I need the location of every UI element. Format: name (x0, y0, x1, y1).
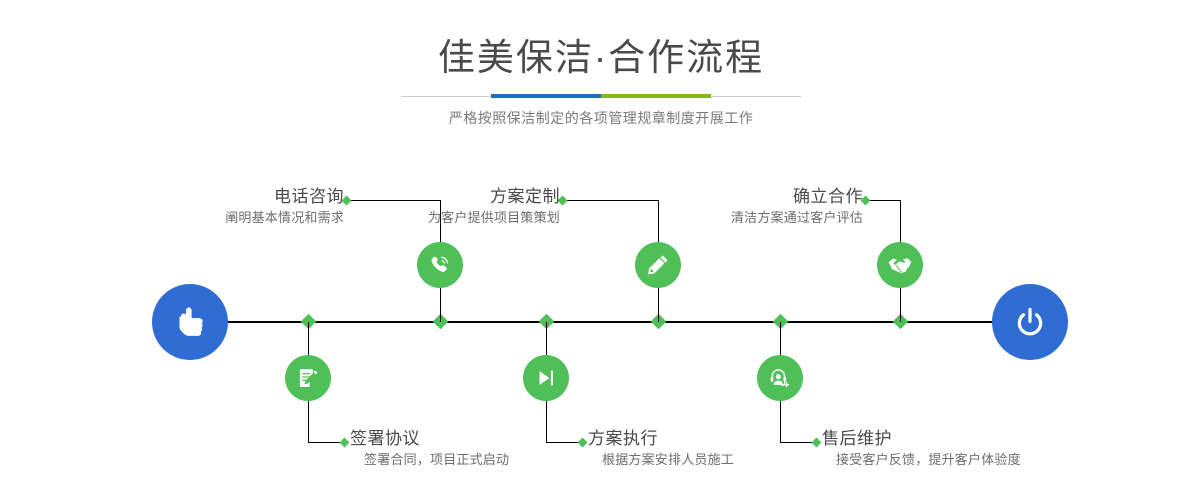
pointing-hand-icon (169, 301, 211, 343)
connector-stem-2 (308, 322, 309, 356)
play-execute-icon (533, 365, 559, 391)
step-node-2[interactable] (285, 355, 331, 401)
phone-call-icon (427, 252, 453, 278)
step-title-6: 售后维护 (822, 428, 1021, 450)
page-subtitle: 严格按照保洁制定的各项管理规章制度开展工作 (0, 107, 1202, 129)
step-node-6[interactable] (757, 355, 803, 401)
page-title: 佳美保洁·合作流程 (0, 36, 1202, 80)
timeline-start-endpoint (152, 284, 228, 360)
pencil-design-icon (645, 252, 671, 278)
step-title-5: 确立合作 (648, 186, 863, 208)
step-label-3: 方案定制 为客户提供项目策策划 (345, 186, 560, 228)
label-tip-2 (340, 438, 350, 448)
step-title-2: 签署协议 (350, 428, 509, 450)
handshake-icon (886, 251, 914, 279)
step-label-4: 方案执行 根据方案安排人员施工 (588, 428, 734, 470)
step-label-2: 签署协议 签署合同，项目正式启动 (350, 428, 509, 470)
step-title-4: 方案执行 (588, 428, 734, 450)
label-tip-6 (812, 438, 822, 448)
step-label-1: 电话咨询 阐明基本情况和需求 (129, 186, 344, 228)
power-button-icon (1010, 302, 1050, 342)
connector-stem-4 (546, 322, 547, 356)
step-desc-1: 阐明基本情况和需求 (129, 208, 344, 228)
step-node-5[interactable] (877, 242, 923, 288)
flow-diagram-page: 佳美保洁·合作流程 严格按照保洁制定的各项管理规章制度开展工作 (0, 0, 1202, 502)
step-desc-5: 清洁方案通过客户评估 (648, 208, 863, 228)
connector-riser-6 (780, 400, 781, 442)
step-desc-3: 为客户提供项目策策划 (345, 208, 560, 228)
step-node-1[interactable] (417, 242, 463, 288)
connector-elbow-3 (563, 200, 659, 201)
step-desc-4: 根据方案安排人员施工 (588, 450, 734, 470)
step-node-3[interactable] (635, 242, 681, 288)
connector-riser-4 (546, 400, 547, 442)
divider-segment-blue (491, 94, 601, 98)
divider-segment-green (601, 94, 711, 98)
timeline-rail (190, 321, 1040, 323)
step-title-3: 方案定制 (345, 186, 560, 208)
step-node-4[interactable] (523, 355, 569, 401)
step-title-1: 电话咨询 (129, 186, 344, 208)
sign-document-icon (295, 365, 321, 391)
step-desc-2: 签署合同，项目正式启动 (350, 450, 509, 470)
connector-riser-2 (308, 400, 309, 442)
step-label-6: 售后维护 接受客户反馈，提升客户体验度 (822, 428, 1021, 470)
connector-stem-6 (780, 322, 781, 356)
title-divider (401, 94, 801, 98)
label-tip-4 (578, 438, 588, 448)
step-desc-6: 接受客户反馈，提升客户体验度 (822, 450, 1021, 470)
step-label-5: 确立合作 清洁方案通过客户评估 (648, 186, 863, 228)
connector-riser-5 (900, 200, 901, 244)
connector-elbow-5 (866, 200, 901, 201)
timeline-end-endpoint (992, 284, 1068, 360)
customer-support-icon (767, 365, 793, 391)
